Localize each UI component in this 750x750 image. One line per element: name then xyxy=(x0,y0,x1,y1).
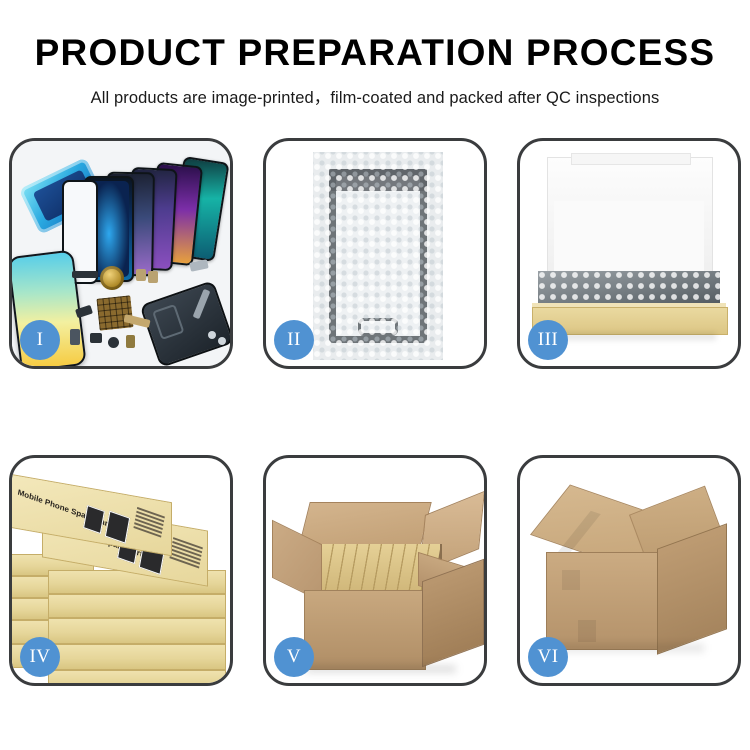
panel-products-and-parts[interactable]: I xyxy=(9,138,233,369)
step-badge: I xyxy=(20,320,60,360)
step-badge: III xyxy=(528,320,568,360)
page-title: PRODUCT PREPARATION PROCESS xyxy=(0,34,750,73)
carton-body-front xyxy=(304,590,426,670)
sealed-carton-front xyxy=(546,552,660,650)
step-badge: V xyxy=(274,637,314,677)
coil-part-graphic xyxy=(100,266,124,290)
step-badge: IV xyxy=(20,637,60,677)
foam-insert-graphic xyxy=(554,201,704,279)
step-badge: II xyxy=(274,320,314,360)
bubble-wrapped-screen-graphic xyxy=(313,152,443,360)
chip-array-graphic xyxy=(96,295,133,330)
header: PRODUCT PREPARATION PROCESS All products… xyxy=(0,0,750,108)
phone-fan-graphic xyxy=(88,157,228,277)
carton-flap-back xyxy=(298,502,431,548)
panel-stacked-boxes[interactable]: Mobile Phone Spare Parts Mobile Phone Sp… xyxy=(9,455,233,686)
panel-open-carton[interactable]: V xyxy=(263,455,487,686)
process-grid: I II III xyxy=(9,138,741,686)
page-subtitle: All products are image-printed，film-coat… xyxy=(0,84,750,108)
panel-boxed-screen[interactable]: III xyxy=(517,138,741,369)
panel-bubble-wrapped-screen[interactable]: II xyxy=(263,138,487,369)
step-badge: VI xyxy=(528,637,568,677)
panel-sealed-carton[interactable]: VI xyxy=(517,455,741,686)
